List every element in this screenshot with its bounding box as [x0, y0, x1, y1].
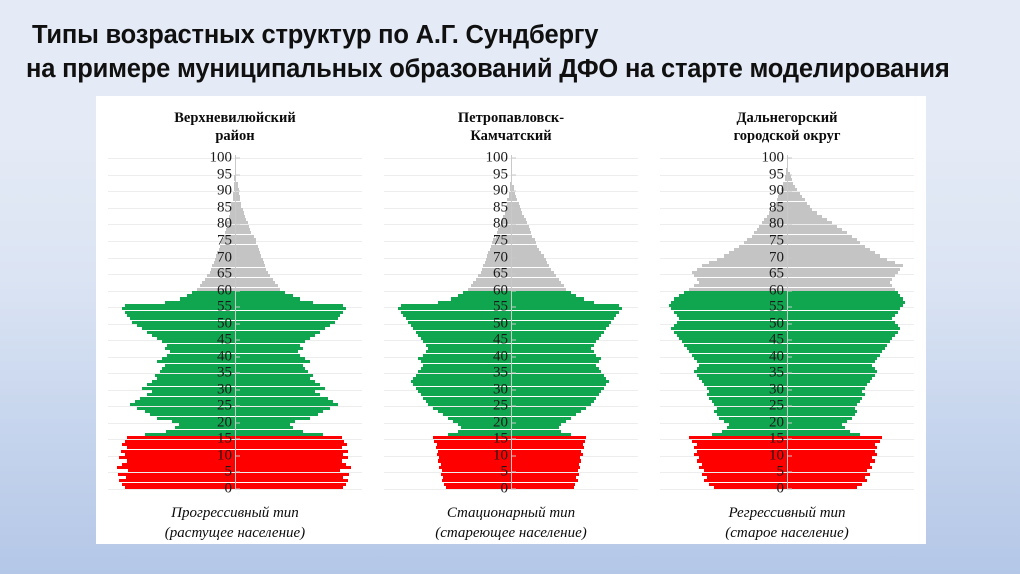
tick-label: 65	[217, 267, 235, 282]
tick-label: 45	[217, 333, 235, 348]
tick-label: 100	[486, 151, 512, 166]
tick-label: 25	[493, 399, 511, 414]
tick-mark	[235, 406, 240, 407]
tick-label: 35	[769, 366, 787, 381]
tick-mark	[235, 240, 240, 241]
tick-mark	[511, 307, 516, 308]
tick-label: 80	[493, 217, 511, 232]
tick-mark	[787, 191, 792, 192]
tick-label: 35	[493, 366, 511, 381]
tick-label: 85	[217, 200, 235, 215]
tick-label: 45	[493, 333, 511, 348]
chart-title: Верхневилюйский район	[174, 109, 295, 147]
axis-tick-labels: 1009590858075706560555045403530252015105…	[97, 155, 373, 489]
tick-mark	[511, 323, 516, 324]
tick-label: 85	[493, 200, 511, 215]
tick-label: 30	[217, 382, 235, 397]
chart-title: Петропавловск- Камчатский	[458, 109, 564, 147]
tick-label: 90	[493, 184, 511, 199]
tick-label: 15	[217, 432, 235, 447]
tick-mark	[511, 422, 516, 423]
tick-mark	[511, 191, 516, 192]
chart-caption: Регрессивный тип (старое население)	[725, 503, 848, 543]
tick-label: 80	[769, 217, 787, 232]
tick-label: 55	[769, 300, 787, 315]
tick-mark	[235, 191, 240, 192]
tick-mark	[511, 406, 516, 407]
tick-label: 20	[217, 415, 235, 430]
chart-caption: Прогрессивный тип (растущее население)	[165, 503, 305, 543]
tick-label: 0	[501, 482, 512, 497]
page-title: Типы возрастных структур по А.Г. Сундбер…	[0, 18, 1020, 86]
tick-label: 10	[769, 448, 787, 463]
tick-label: 70	[769, 250, 787, 265]
tick-mark	[235, 373, 240, 374]
tick-label: 70	[493, 250, 511, 265]
axis-tick-labels: 1009590858075706560555045403530252015105…	[373, 155, 649, 489]
tick-mark	[787, 472, 792, 473]
tick-mark	[511, 439, 516, 440]
axis-tick-labels: 1009590858075706560555045403530252015105…	[649, 155, 925, 489]
tick-mark	[235, 323, 240, 324]
tick-label: 55	[217, 300, 235, 315]
tick-mark	[787, 207, 792, 208]
pyramid-chart-3: Дальнегорский городской округ10095908580…	[649, 97, 925, 543]
tick-mark	[511, 340, 516, 341]
tick-label: 20	[769, 415, 787, 430]
pyramid-chart-2: Петропавловск- Камчатский100959085807570…	[373, 97, 649, 543]
chart-panel: Верхневилюйский район1009590858075706560…	[97, 97, 925, 543]
tick-mark	[511, 489, 516, 490]
tick-mark	[787, 257, 792, 258]
tick-label: 50	[217, 316, 235, 331]
tick-label: 95	[769, 167, 787, 182]
tick-mark	[235, 422, 240, 423]
plot-area: 1009590858075706560555045403530252015105…	[373, 147, 649, 489]
tick-mark	[511, 207, 516, 208]
tick-mark	[787, 174, 792, 175]
tick-mark	[235, 174, 240, 175]
tick-label: 95	[493, 167, 511, 182]
tick-label: 100	[210, 151, 236, 166]
tick-label: 25	[769, 399, 787, 414]
tick-mark	[787, 224, 792, 225]
tick-mark	[511, 158, 516, 159]
tick-mark	[787, 240, 792, 241]
tick-label: 75	[769, 233, 787, 248]
tick-mark	[511, 472, 516, 473]
tick-mark	[787, 489, 792, 490]
tick-label: 10	[493, 448, 511, 463]
tick-label: 30	[769, 382, 787, 397]
tick-label: 45	[769, 333, 787, 348]
tick-label: 25	[217, 399, 235, 414]
tick-label: 35	[217, 366, 235, 381]
tick-mark	[235, 389, 240, 390]
tick-label: 40	[217, 349, 235, 364]
tick-mark	[235, 307, 240, 308]
tick-mark	[235, 158, 240, 159]
tick-mark	[235, 489, 240, 490]
tick-label: 90	[769, 184, 787, 199]
tick-label: 50	[769, 316, 787, 331]
tick-mark	[235, 207, 240, 208]
tick-mark	[511, 373, 516, 374]
tick-mark	[787, 422, 792, 423]
tick-label: 65	[493, 267, 511, 282]
tick-mark	[511, 274, 516, 275]
tick-mark	[787, 158, 792, 159]
tick-mark	[787, 406, 792, 407]
tick-label: 80	[217, 217, 235, 232]
tick-label: 60	[769, 283, 787, 298]
tick-mark	[787, 340, 792, 341]
tick-label: 60	[493, 283, 511, 298]
tick-mark	[235, 224, 240, 225]
tick-label: 40	[493, 349, 511, 364]
tick-label: 40	[769, 349, 787, 364]
tick-label: 65	[769, 267, 787, 282]
tick-mark	[787, 323, 792, 324]
tick-mark	[787, 373, 792, 374]
tick-mark	[787, 455, 792, 456]
chart-caption: Стационарный тип (стареющее население)	[435, 503, 587, 543]
tick-mark	[787, 389, 792, 390]
tick-mark	[511, 290, 516, 291]
tick-label: 90	[217, 184, 235, 199]
tick-label: 0	[225, 482, 236, 497]
tick-mark	[235, 257, 240, 258]
tick-mark	[511, 389, 516, 390]
tick-label: 70	[217, 250, 235, 265]
tick-mark	[235, 455, 240, 456]
tick-label: 15	[493, 432, 511, 447]
tick-mark	[787, 290, 792, 291]
title-line-2: на примере муниципальных образований ДФО…	[24, 52, 996, 86]
tick-mark	[787, 356, 792, 357]
tick-mark	[235, 290, 240, 291]
tick-label: 95	[217, 167, 235, 182]
tick-label: 5	[225, 465, 236, 480]
plot-area: 1009590858075706560555045403530252015105…	[649, 147, 925, 489]
chart-title: Дальнегорский городской округ	[734, 109, 841, 147]
tick-mark	[235, 356, 240, 357]
tick-label: 5	[501, 465, 512, 480]
tick-label: 55	[493, 300, 511, 315]
tick-label: 60	[217, 283, 235, 298]
tick-label: 10	[217, 448, 235, 463]
tick-label: 0	[777, 482, 788, 497]
title-line-1: Типы возрастных структур по А.Г. Сундбер…	[24, 18, 996, 52]
tick-mark	[511, 240, 516, 241]
tick-mark	[511, 455, 516, 456]
tick-mark	[511, 174, 516, 175]
tick-label: 75	[493, 233, 511, 248]
tick-mark	[511, 257, 516, 258]
tick-mark	[787, 274, 792, 275]
pyramid-chart-1: Верхневилюйский район1009590858075706560…	[97, 97, 373, 543]
tick-mark	[235, 472, 240, 473]
tick-label: 50	[493, 316, 511, 331]
tick-label: 85	[769, 200, 787, 215]
tick-label: 15	[769, 432, 787, 447]
tick-label: 30	[493, 382, 511, 397]
tick-mark	[787, 307, 792, 308]
tick-mark	[235, 340, 240, 341]
tick-label: 100	[762, 151, 788, 166]
tick-mark	[787, 439, 792, 440]
tick-mark	[511, 224, 516, 225]
plot-area: 1009590858075706560555045403530252015105…	[97, 147, 373, 489]
tick-mark	[511, 356, 516, 357]
pyramid-chart-group: Верхневилюйский район1009590858075706560…	[97, 97, 925, 543]
tick-mark	[235, 274, 240, 275]
tick-label: 20	[493, 415, 511, 430]
tick-mark	[235, 439, 240, 440]
tick-label: 75	[217, 233, 235, 248]
tick-label: 5	[777, 465, 788, 480]
